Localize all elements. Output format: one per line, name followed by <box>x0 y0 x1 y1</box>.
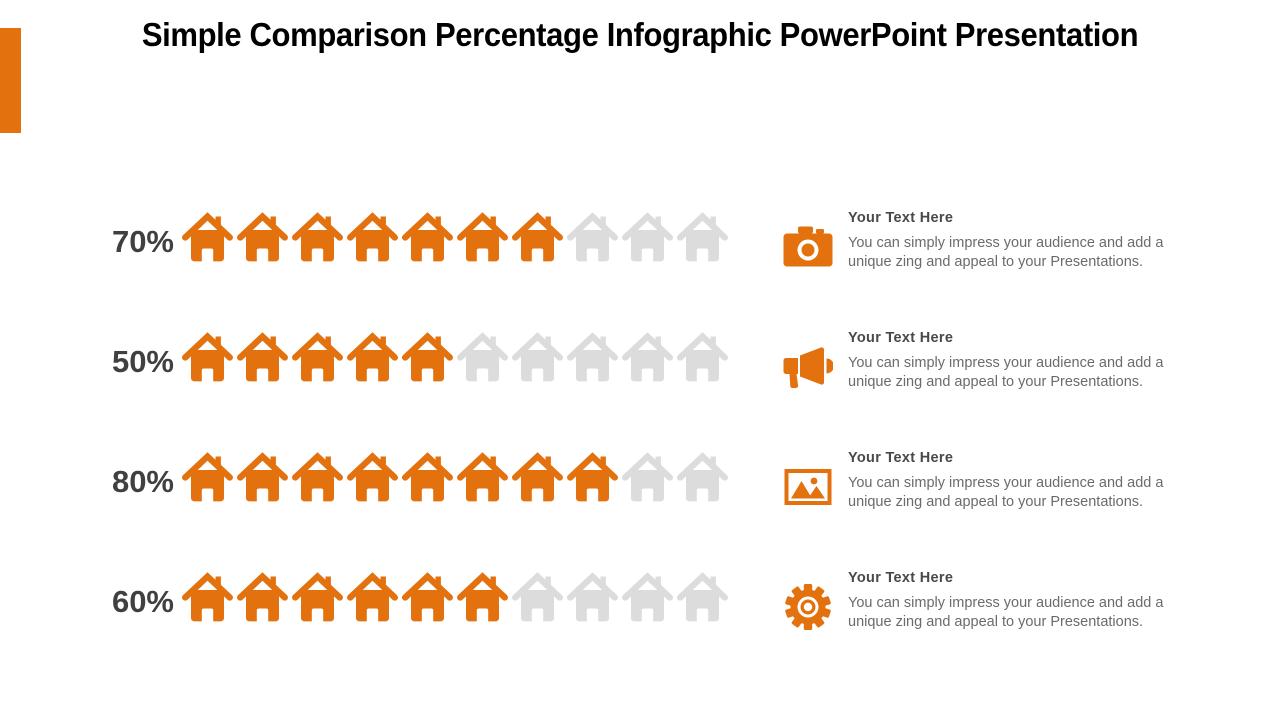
percentage-row: 70%Your Text HereYou can simply impress … <box>0 190 1280 310</box>
percentage-label: 60% <box>88 584 174 620</box>
percentage-row: 60%Your Text HereYou can simply impress … <box>0 550 1280 670</box>
percentage-row: 80%Your Text HereYou can simply impress … <box>0 430 1280 550</box>
house-icon-strip <box>180 328 730 386</box>
camera-icon <box>783 224 833 270</box>
percentage-label: 70% <box>88 224 174 260</box>
house-icon-filled <box>510 208 565 266</box>
house-icon-empty <box>455 328 510 386</box>
house-icon-empty <box>565 208 620 266</box>
house-icon-empty <box>510 568 565 626</box>
info-heading: Your Text Here <box>848 330 1203 346</box>
house-icon-filled <box>565 448 620 506</box>
info-body: You can simply impress your audience and… <box>848 234 1203 272</box>
image-icon <box>783 464 833 510</box>
info-heading: Your Text Here <box>848 210 1203 226</box>
house-icon-filled <box>400 448 455 506</box>
house-icon-filled <box>400 568 455 626</box>
house-icon-empty <box>620 448 675 506</box>
house-icon-filled <box>180 568 235 626</box>
house-icon-filled <box>345 208 400 266</box>
page-title: Simple Comparison Percentage Infographic… <box>95 10 1185 60</box>
percentage-label: 50% <box>88 344 174 380</box>
house-icon-filled <box>510 448 565 506</box>
house-icon-filled <box>455 448 510 506</box>
house-icon-filled <box>400 208 455 266</box>
house-icon-filled <box>400 328 455 386</box>
house-icon-empty <box>620 568 675 626</box>
percentage-rows: 70%Your Text HereYou can simply impress … <box>0 190 1280 670</box>
house-icon-empty <box>510 328 565 386</box>
info-body: You can simply impress your audience and… <box>848 474 1203 512</box>
info-block: Your Text HereYou can simply impress you… <box>783 570 1203 632</box>
percentage-label: 80% <box>88 464 174 500</box>
house-icon-filled <box>290 328 345 386</box>
info-heading: Your Text Here <box>848 450 1203 466</box>
house-icon-filled <box>290 568 345 626</box>
info-text: Your Text HereYou can simply impress you… <box>848 450 1203 512</box>
info-block: Your Text HereYou can simply impress you… <box>783 210 1203 272</box>
house-icon-strip <box>180 208 730 266</box>
house-icon-empty <box>565 328 620 386</box>
house-icon-empty <box>675 208 730 266</box>
house-icon-empty <box>565 568 620 626</box>
house-icon-filled <box>235 328 290 386</box>
info-heading: Your Text Here <box>848 570 1203 586</box>
house-icon-filled <box>455 568 510 626</box>
house-icon-filled <box>180 328 235 386</box>
gear-icon <box>783 584 833 630</box>
house-icon-empty <box>675 568 730 626</box>
info-block: Your Text HereYou can simply impress you… <box>783 450 1203 512</box>
house-icon-filled <box>455 208 510 266</box>
megaphone-icon <box>783 344 833 390</box>
info-text: Your Text HereYou can simply impress you… <box>848 210 1203 272</box>
house-icon-strip <box>180 448 730 506</box>
percentage-row: 50%Your Text HereYou can simply impress … <box>0 310 1280 430</box>
house-icon-filled <box>290 448 345 506</box>
info-body: You can simply impress your audience and… <box>848 594 1203 632</box>
info-text: Your Text HereYou can simply impress you… <box>848 570 1203 632</box>
info-text: Your Text HereYou can simply impress you… <box>848 330 1203 392</box>
house-icon-filled <box>180 208 235 266</box>
house-icon-strip <box>180 568 730 626</box>
house-icon-empty <box>620 208 675 266</box>
info-body: You can simply impress your audience and… <box>848 354 1203 392</box>
house-icon-filled <box>345 448 400 506</box>
house-icon-filled <box>235 448 290 506</box>
house-icon-empty <box>675 328 730 386</box>
house-icon-filled <box>345 568 400 626</box>
house-icon-filled <box>290 208 345 266</box>
house-icon-filled <box>235 208 290 266</box>
house-icon-filled <box>180 448 235 506</box>
info-block: Your Text HereYou can simply impress you… <box>783 330 1203 392</box>
house-icon-filled <box>345 328 400 386</box>
house-icon-empty <box>675 448 730 506</box>
house-icon-filled <box>235 568 290 626</box>
house-icon-empty <box>620 328 675 386</box>
left-accent-bar <box>0 28 21 133</box>
